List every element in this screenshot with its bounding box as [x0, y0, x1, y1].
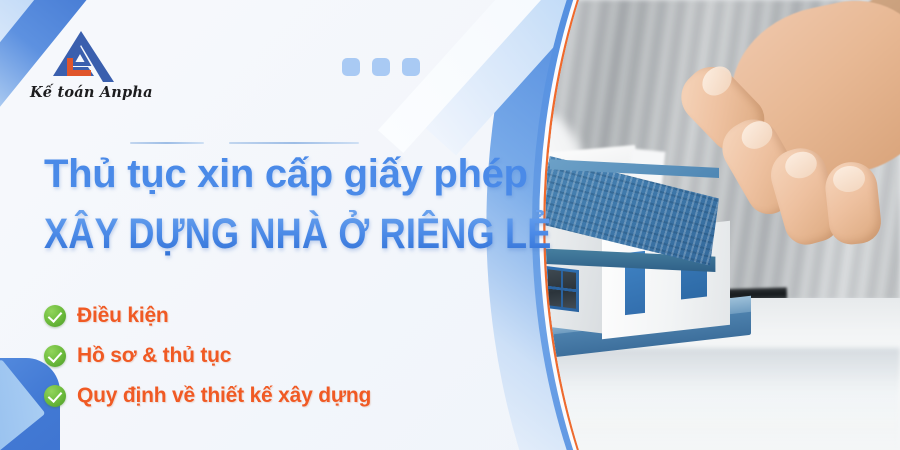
decorative-line-1 [130, 142, 204, 144]
brand-logo[interactable]: Kế toán Anpha [30, 28, 134, 108]
list-item: Quy định về thiết kế xây dựng [44, 376, 371, 416]
house-front-window-right [545, 266, 579, 312]
hand [627, 22, 900, 282]
content-area: Kế toán Anpha Thủ tục xin cấp giấy phép … [0, 0, 520, 450]
dot-1 [342, 58, 360, 76]
dot-2 [372, 58, 390, 76]
dot-3 [402, 58, 420, 76]
bullet-label: Quy định về thiết kế xây dựng [77, 384, 371, 408]
bullet-list: Điều kiện Hồ sơ & thủ tục Quy định về th… [44, 296, 371, 416]
dots-decoration [342, 58, 420, 76]
brand-name: Kế toán Anpha [30, 84, 134, 101]
list-item: Hồ sơ & thủ tục [44, 336, 371, 376]
decorative-line-2 [229, 142, 359, 144]
check-circle-icon [44, 385, 66, 407]
check-circle-icon [44, 305, 66, 327]
headline-line-1: Thủ tục xin cấp giấy phép [44, 152, 528, 197]
banner: Kế toán Anpha Thủ tục xin cấp giấy phép … [0, 0, 900, 450]
check-circle-icon [44, 345, 66, 367]
bullet-label: Điều kiện [77, 304, 169, 328]
bullet-label: Hồ sơ & thủ tục [77, 344, 231, 368]
list-item: Điều kiện [44, 296, 371, 336]
decorative-lines [130, 142, 359, 144]
headline-line-2: XÂY DỰNG NHÀ Ở RIÊNG LẺ [44, 210, 552, 259]
anpha-triangle-logo-icon [44, 28, 118, 86]
